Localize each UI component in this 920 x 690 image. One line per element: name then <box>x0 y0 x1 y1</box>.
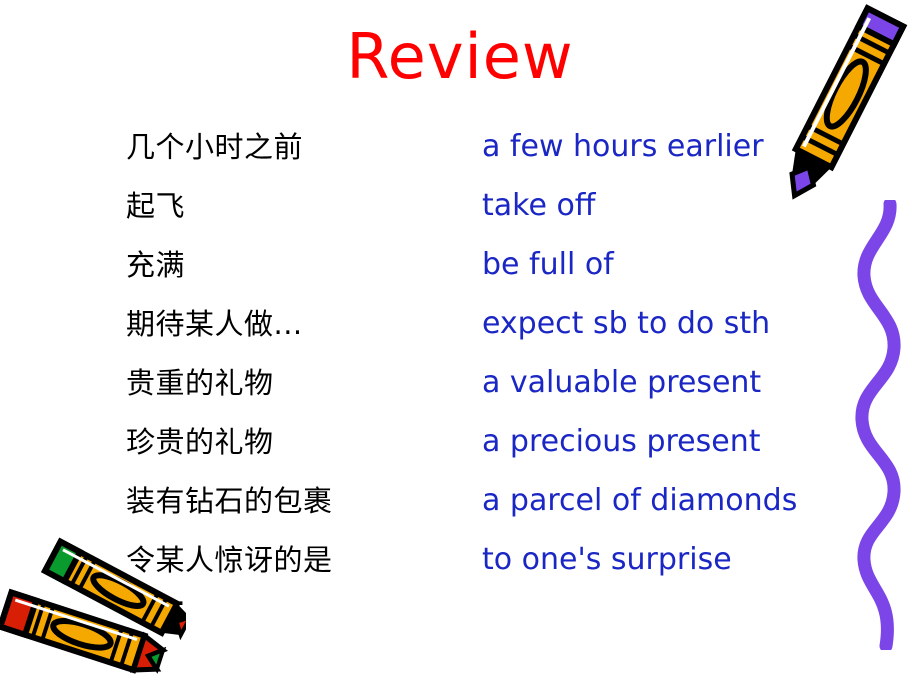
english-term: expect sb to do sth <box>482 301 770 347</box>
chinese-term: 起飞 <box>126 183 185 229</box>
purple-squiggle-icon <box>846 200 912 650</box>
vocabulary-row: 贵重的礼物 a valuable present <box>126 360 846 419</box>
trailing-ellipsis: ... <box>152 572 189 618</box>
chinese-term: 几个小时之前 <box>126 124 303 170</box>
vocabulary-row: 珍贵的礼物 a precious present <box>126 419 846 478</box>
chinese-term: 期待某人做... <box>126 301 303 347</box>
chinese-term: 贵重的礼物 <box>126 360 274 406</box>
english-term: a parcel of diamonds <box>482 478 797 524</box>
vocabulary-row: 装有钻石的包裹 a parcel of diamonds <box>126 478 846 537</box>
english-term: to one's surprise <box>482 537 732 583</box>
vocabulary-row: 期待某人做... expect sb to do sth <box>126 301 846 360</box>
vocabulary-row: 充满 be full of <box>126 242 846 301</box>
slide-canvas: Review 几个小时之前 a few hours earlier 起飞 tak… <box>0 0 920 690</box>
vocabulary-list: 几个小时之前 a few hours earlier 起飞 take off 充… <box>126 124 846 596</box>
english-term: be full of <box>482 242 614 288</box>
vocabulary-row: 令某人惊讶的是 to one's surprise <box>126 537 846 596</box>
page-title: Review <box>0 22 920 92</box>
english-term: a valuable present <box>482 360 761 406</box>
chinese-term: 充满 <box>126 242 185 288</box>
english-term: take off <box>482 183 595 229</box>
english-term: a few hours earlier <box>482 124 764 170</box>
vocabulary-row: 几个小时之前 a few hours earlier <box>126 124 846 183</box>
vocabulary-row: 起飞 take off <box>126 183 846 242</box>
chinese-term: 珍贵的礼物 <box>126 419 274 465</box>
chinese-term: 装有钻石的包裹 <box>126 478 333 524</box>
english-term: a precious present <box>482 419 761 465</box>
